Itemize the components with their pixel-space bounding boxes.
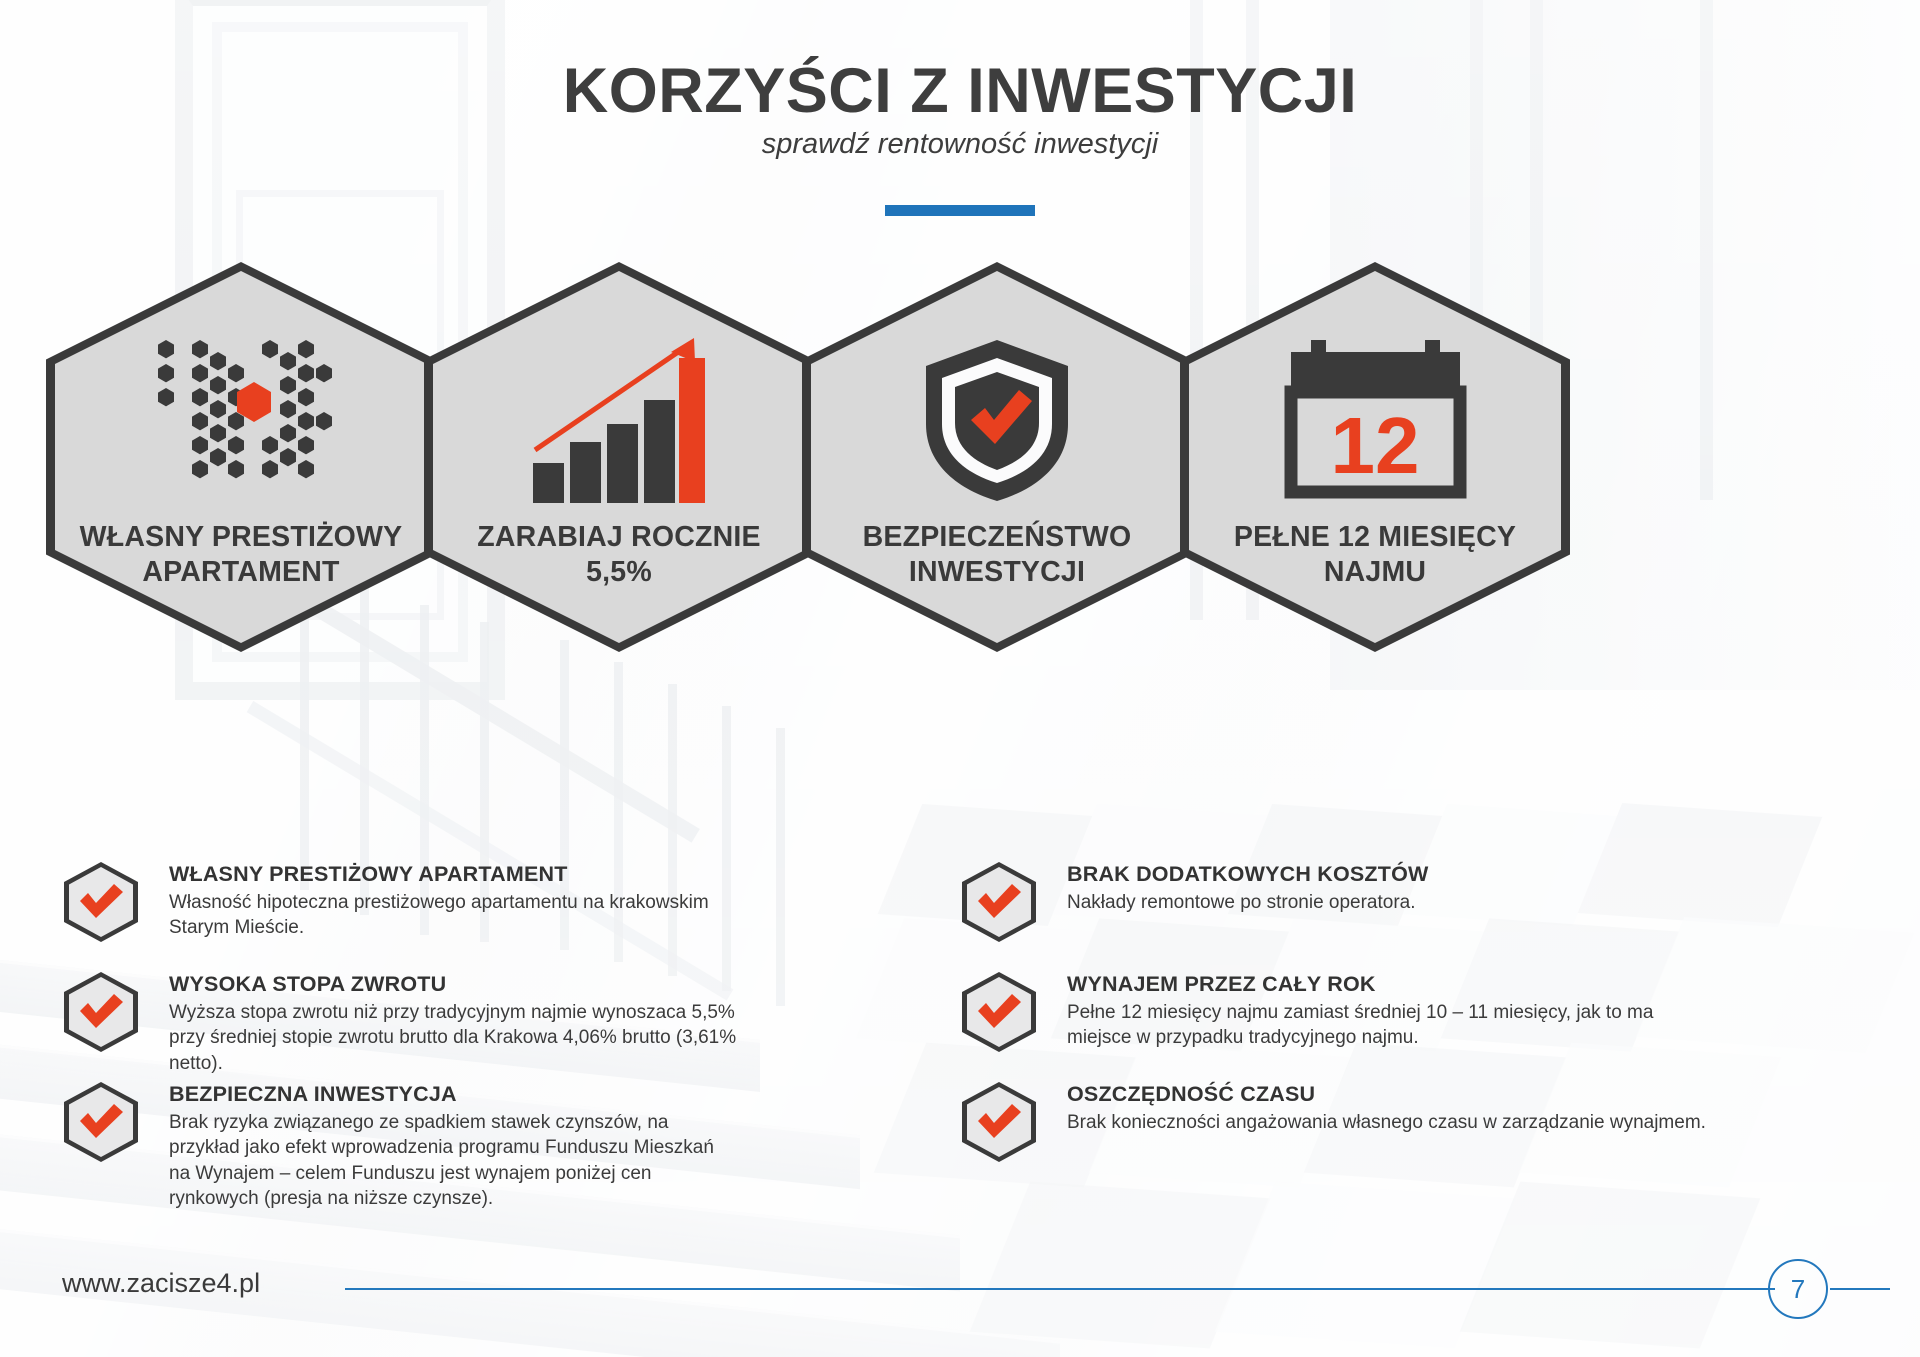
checkmark-icon <box>978 994 1021 1030</box>
benefit-badge-label: ZARABIAJ ROCZNIE 5,5% <box>442 520 796 590</box>
benefit-badge-full-year[interactable]: 12 PEŁNE 12 MIESIĘCY NAJMU <box>1180 262 1570 652</box>
checklist-text: WYSOKA STOPA ZWROTU Wyższa stopa zwrotu … <box>169 972 744 1076</box>
badge-label-line2: APARTAMENT <box>142 556 339 588</box>
footer-divider-tail <box>1830 1288 1890 1290</box>
checklist-body: Wyższa stopa zwrotu niż przy tradycyjnym… <box>169 1000 744 1076</box>
title-accent-rule <box>885 205 1035 216</box>
footer-website-url[interactable]: www.zacisze4.pl <box>62 1268 260 1299</box>
checklist-heading: OSZCZĘDNOŚĆ CZASU <box>1067 1082 1707 1107</box>
calendar-number: 12 <box>1330 401 1419 490</box>
check-hex-icon <box>64 972 138 1052</box>
hex-pattern-building-icon <box>46 340 436 500</box>
benefit-badge-row: WŁASNY PRESTIŻOWY APARTAMENT <box>0 262 1920 652</box>
checkmark-icon <box>80 884 123 920</box>
benefit-badge-own-apartment[interactable]: WŁASNY PRESTIŻOWY APARTAMENT <box>46 262 436 652</box>
badge-label-line2: 5,5% <box>586 556 652 588</box>
badge-label-line1: WŁASNY PRESTIŻOWY <box>80 521 403 553</box>
checkmark-icon <box>80 1104 123 1140</box>
checklist-heading: BEZPIECZNA INWESTYCJA <box>169 1082 729 1107</box>
checklist-heading: WYNAJEM PRZEZ CAŁY ROK <box>1067 972 1692 997</box>
page-title: KORZYŚCI Z INWESTYCJI <box>0 55 1920 127</box>
check-hex-icon <box>962 862 1036 942</box>
checklist-body: Własność hipoteczna prestiżowego apartam… <box>169 890 744 941</box>
checkmark-icon <box>978 1104 1021 1140</box>
benefit-badge-label: WŁASNY PRESTIŻOWY APARTAMENT <box>64 520 418 590</box>
benefit-badge-label: PEŁNE 12 MIESIĘCY NAJMU <box>1198 520 1552 590</box>
page-subtitle: sprawdź rentowność inwestycji <box>0 128 1920 161</box>
badge-label-line2: NAJMU <box>1324 556 1426 588</box>
checklist-body: Nakłady remontowe po stronie operatora. <box>1067 890 1429 915</box>
checklist-body: Brak konieczności angażowania własnego c… <box>1067 1110 1707 1135</box>
checklist-heading: WYSOKA STOPA ZWROTU <box>169 972 744 997</box>
checklist-text: WYNAJEM PRZEZ CAŁY ROK Pełne 12 miesięcy… <box>1067 972 1692 1051</box>
page-number-badge: 7 <box>1768 1259 1828 1319</box>
checklist-text: BEZPIECZNA INWESTYCJA Brak ryzyka związa… <box>169 1082 729 1212</box>
checkmark-icon <box>978 884 1021 920</box>
footer-divider-line <box>345 1288 1775 1290</box>
calendar-12-icon: 12 <box>1180 340 1570 500</box>
badge-label-line1: BEZPIECZEŃSTWO <box>863 521 1132 553</box>
benefit-badge-annual-yield[interactable]: ZARABIAJ ROCZNIE 5,5% <box>424 262 814 652</box>
check-hex-icon <box>64 1082 138 1162</box>
badge-label-line2: INWESTYCJI <box>909 556 1085 588</box>
checklist-text: WŁASNY PRESTIŻOWY APARTAMENT Własność hi… <box>169 862 744 941</box>
check-hex-icon <box>962 972 1036 1052</box>
checklist-heading: BRAK DODATKOWYCH KOSZTÓW <box>1067 862 1429 887</box>
checklist-heading: WŁASNY PRESTIŻOWY APARTAMENT <box>169 862 744 887</box>
slide-root: KORZYŚCI Z INWESTYCJI sprawdź rentowność… <box>0 0 1920 1357</box>
checklist-text: OSZCZĘDNOŚĆ CZASU Brak konieczności anga… <box>1067 1082 1707 1135</box>
check-hex-icon <box>64 862 138 942</box>
growth-bar-chart-icon <box>424 340 814 500</box>
benefit-badge-security[interactable]: BEZPIECZEŃSTWO INWESTYCJI <box>802 262 1192 652</box>
check-hex-icon <box>962 1082 1036 1162</box>
checklist-body: Brak ryzyka związanego ze spadkiem stawe… <box>169 1110 729 1212</box>
checkmark-icon <box>80 994 123 1030</box>
badge-label-line1: ZARABIAJ ROCZNIE <box>477 521 760 553</box>
shield-check-icon <box>802 340 1192 500</box>
checklist-text: BRAK DODATKOWYCH KOSZTÓW Nakłady remonto… <box>1067 862 1429 915</box>
badge-label-line1: PEŁNE 12 MIESIĘCY <box>1234 521 1516 553</box>
checklist-body: Pełne 12 miesięcy najmu zamiast średniej… <box>1067 1000 1692 1051</box>
benefit-badge-label: BEZPIECZEŃSTWO INWESTYCJI <box>820 520 1174 590</box>
